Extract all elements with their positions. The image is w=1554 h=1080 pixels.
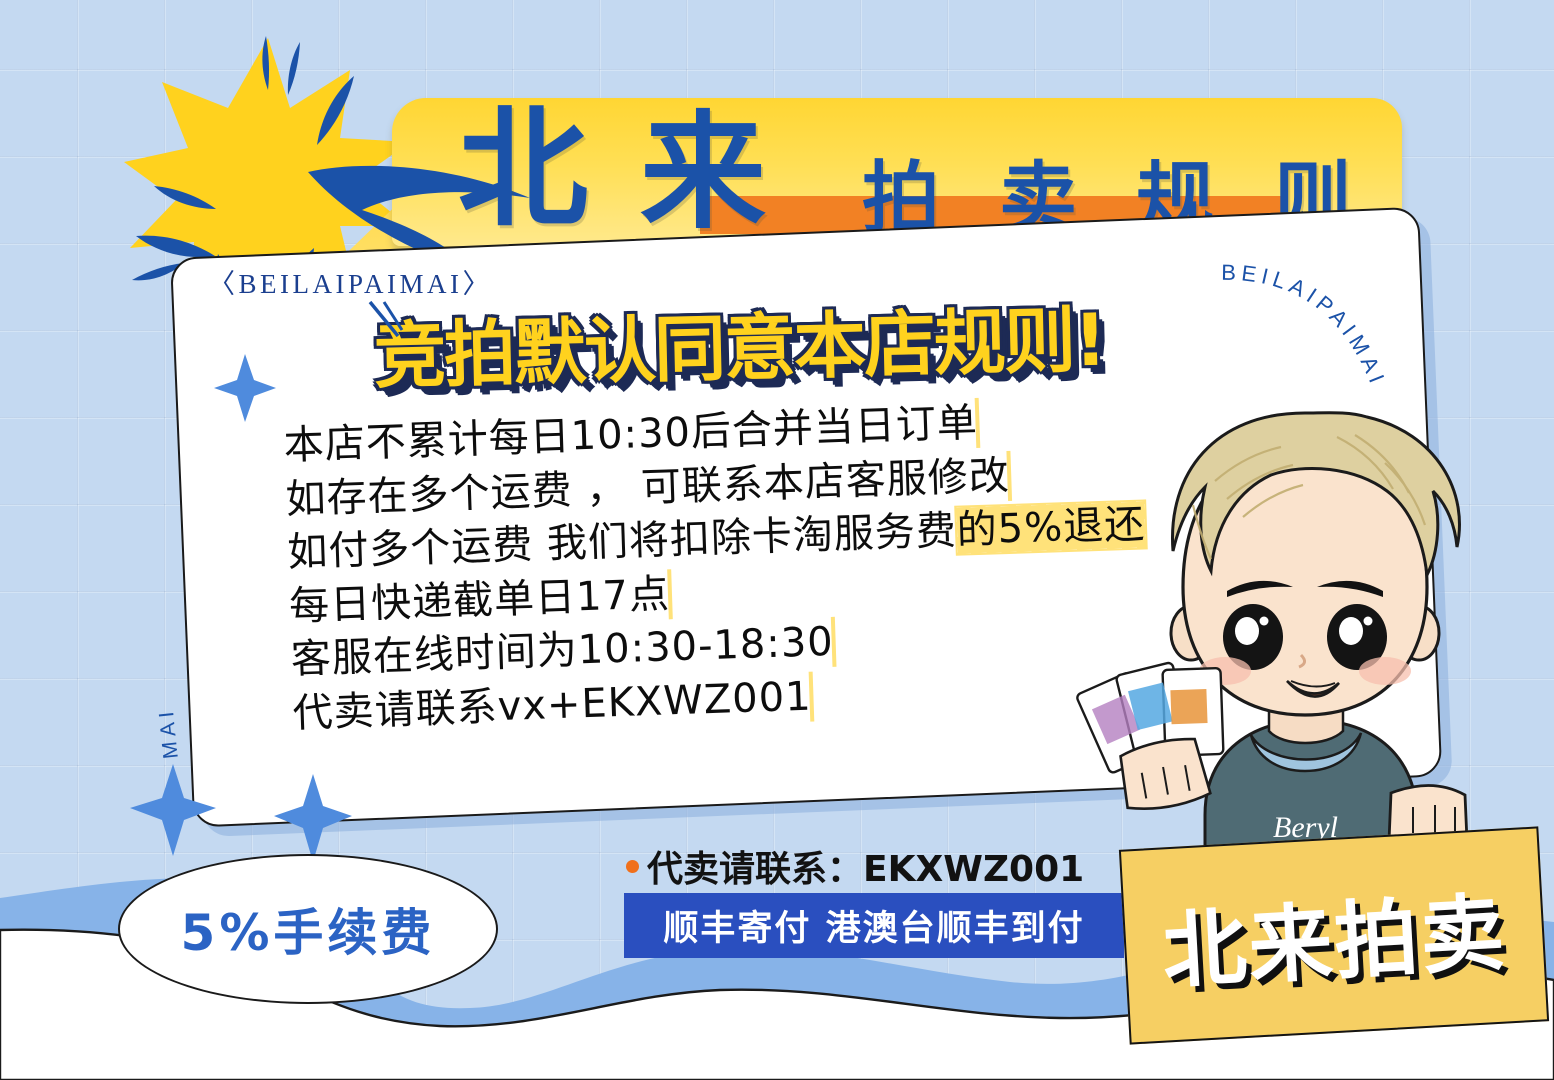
star-decoration-1 — [212, 352, 278, 424]
rules-list: 本店不累计每日10:30后合并当日订单 如存在多个运费 ， 可联系本店客服修改 … — [283, 392, 1151, 742]
svg-text:BEILAIPAIMAI: BEILAIPAIMAI — [1221, 262, 1391, 391]
shipping-banner: 顺丰寄付 港澳台顺丰到付 — [624, 893, 1124, 958]
mascot-character-illustration: Beryl — [1055, 375, 1554, 875]
contact-line: 代卖请联系：EKXWZ001 — [626, 840, 1084, 892]
rule-text: 每日快递截单日17点 — [288, 571, 670, 630]
masthead-title-bei: 北 — [458, 104, 588, 234]
star-decoration-3 — [272, 772, 354, 864]
brand-stamp-text: 北来拍卖 — [1119, 826, 1549, 1044]
star-decoration-2 — [128, 762, 218, 858]
contact-label: 代卖请联系：EKXWZ001 — [647, 840, 1084, 892]
headline-text: 竞拍默认同意本店规则! — [373, 304, 1105, 393]
shipping-banner-text: 顺丰寄付 港澳台顺丰到付 — [663, 900, 1084, 951]
fee-badge-text: 5%手续费 — [118, 854, 498, 1004]
latin-brand-subtitle: 〈BEILAIPAIMAI〉 — [208, 262, 493, 301]
masthead-title-lai: 来 — [640, 110, 766, 236]
headline-spark-icon — [368, 300, 418, 344]
bullet-dot-icon — [626, 860, 639, 873]
